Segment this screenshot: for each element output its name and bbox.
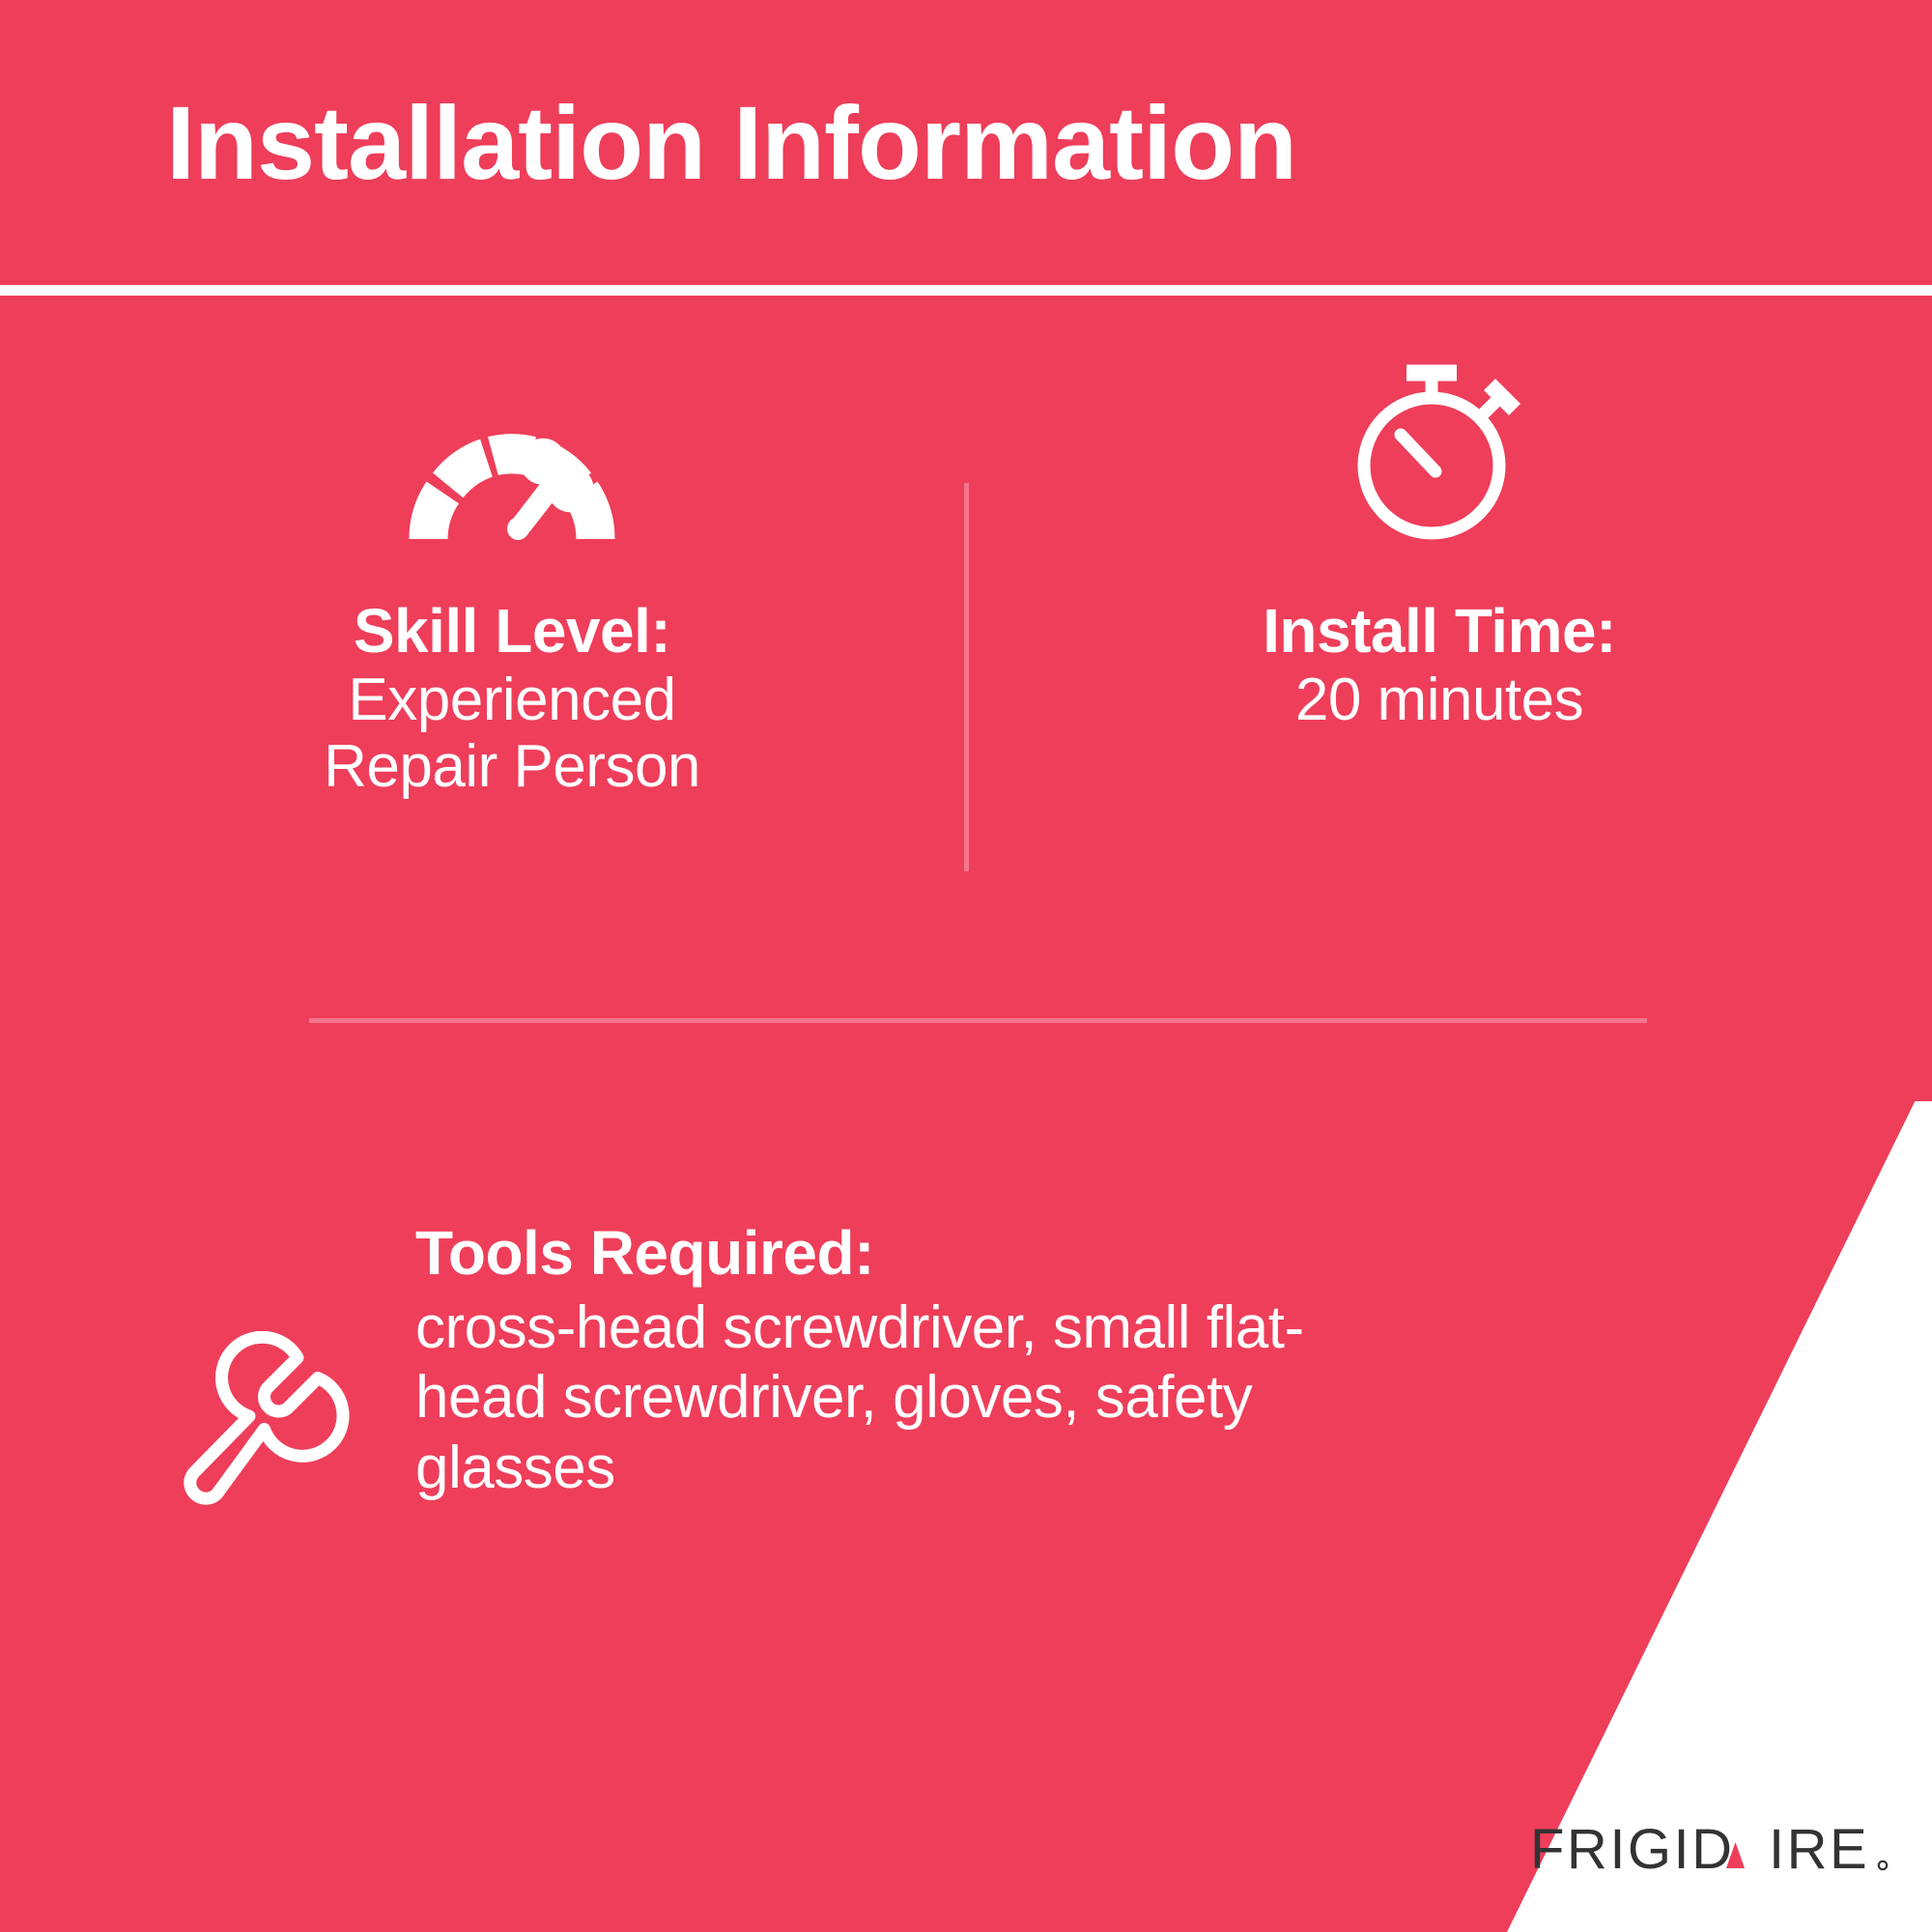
frigidaire-logo: FRIGID IRE (1530, 1818, 1889, 1880)
skill-level-label: Skill Level: (116, 597, 908, 667)
installation-information-card: Installation Information (0, 0, 1932, 1932)
stopwatch-icon (1024, 296, 1855, 547)
install-time-value: 20 minutes (1024, 667, 1855, 733)
install-time-text: Install Time: 20 minutes (1024, 597, 1855, 733)
tools-required-value: cross-head screwdriver, small flat-head … (415, 1293, 1381, 1504)
page-title: Installation Information (166, 91, 1296, 195)
install-time-label: Install Time: (1024, 597, 1855, 667)
skill-level-value-line2: Repair Person (116, 733, 908, 800)
wrench-icon (116, 1217, 415, 1515)
header-bar: Installation Information (0, 0, 1932, 285)
install-time-section: Install Time: 20 minutes (1024, 296, 1855, 972)
vertical-divider (964, 483, 969, 871)
tools-required-label: Tools Required: (415, 1217, 1381, 1290)
skill-level-section: Skill Level: Experienced Repair Person (116, 296, 908, 972)
skill-level-value-line1: Experienced (116, 667, 908, 733)
registered-mark-icon (1879, 1861, 1887, 1869)
gauge-wrench-icon (116, 296, 908, 547)
horizontal-divider (309, 1018, 1647, 1023)
tools-required-section: Tools Required: cross-head screwdriver, … (116, 1217, 1517, 1515)
tools-required-text: Tools Required: cross-head screwdriver, … (415, 1217, 1381, 1503)
logo-wordmark-part2: IRE (1769, 1818, 1869, 1880)
skill-level-text: Skill Level: Experienced Repair Person (116, 597, 908, 801)
logo-wordmark-part1: FRIGID (1530, 1818, 1735, 1880)
header-divider (0, 285, 1932, 296)
